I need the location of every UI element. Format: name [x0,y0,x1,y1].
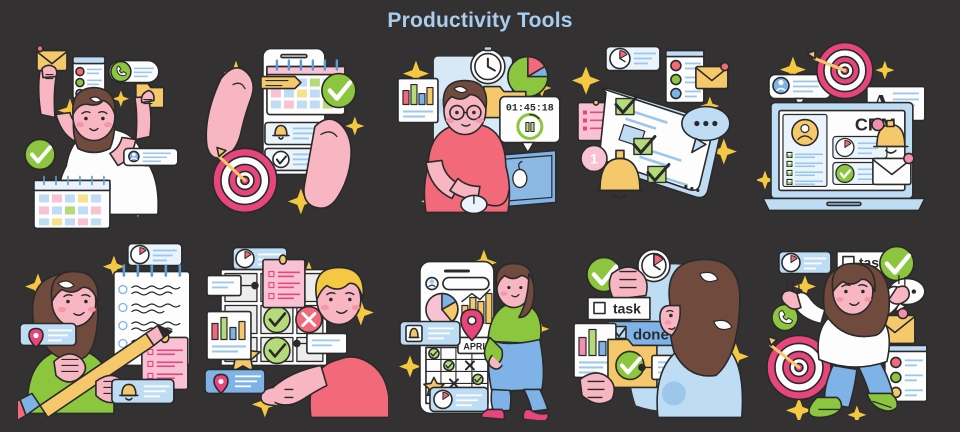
target-icon [213,147,277,212]
search-bar [426,278,489,290]
clock-card [128,244,182,266]
envelope-icon [696,63,729,89]
pie-chart-icon [426,294,458,326]
location-card [205,369,265,393]
illustration-woman-seated-tasks: Seated woman surrounded by task label, t… [757,229,942,420]
clock-card [430,387,488,411]
message-card [124,148,178,165]
clock-card [779,252,831,274]
illustration-man-laptop-timer: Man at a laptop with a running timer, cl… [388,38,573,229]
illustration-phone-checklist: Tilted smartphone showing a checklist wi… [572,38,757,229]
check-badge [264,307,290,333]
cross-badge [296,307,322,333]
illustration-grid: Woman raising both hands surrounded by e… [18,38,942,420]
check-badge [264,337,290,363]
illustration-crm-laptop: Laptop displaying a CRM dashboard with t… [757,38,942,229]
notification-badge: 1 [590,150,598,166]
pie-chart-icon [507,57,547,97]
clock-icon [471,47,505,84]
timer-bubble: 01:45:18 [499,97,559,153]
task-label: task [588,298,650,320]
check-badge [25,139,55,169]
bar-chart-card [207,312,251,360]
illustration-woman-task-done: Woman seen from behind with task and don… [572,229,757,420]
laptop: CRM [763,103,925,211]
task-label-text: task [613,301,641,317]
envelope-icon [873,153,914,184]
check-badge [322,74,356,108]
page-title: Productivity Tools [0,9,960,33]
illustration-multitasking-woman: Woman raising both hands surrounded by e… [18,38,203,229]
check-badge [880,247,914,281]
illustration-man-kanban-board: Blond man pointing at a task board with … [203,229,388,420]
bell-card [112,379,174,403]
bell-card [400,322,460,346]
calendar [34,176,110,228]
illustration-hands-phone-calendar: Two hands holding a smartphone showing a… [203,38,388,229]
illustration-woman-phone-dashboard: Woman leaning on a large phone showing c… [388,229,573,420]
clock-card [606,47,660,71]
folder-check [608,339,657,387]
bar-chart-card [398,79,438,123]
illustration-woman-pencil-notes: Woman holding an oversized pencil next t… [18,229,203,420]
location-card [20,324,76,348]
timer-value: 01:45:18 [506,103,554,114]
checklist-card [263,255,305,307]
phone-call-bubble [109,61,159,83]
